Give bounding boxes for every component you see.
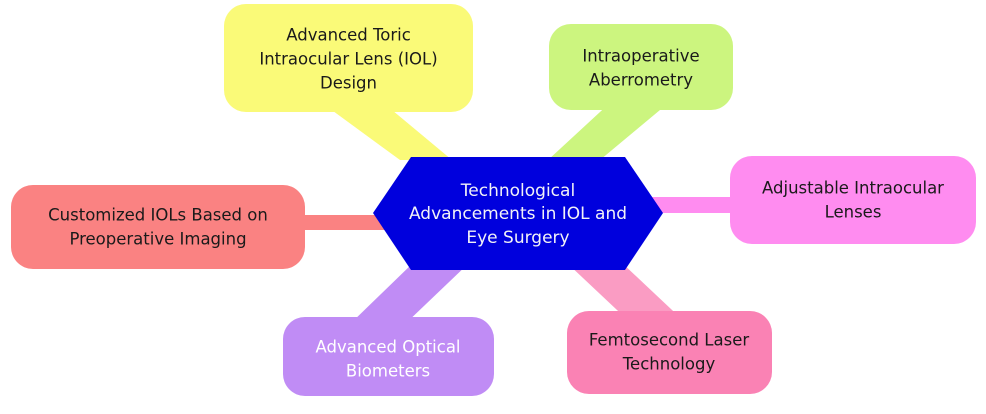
node-shape-advanced-optical-biometers[interactable] — [283, 317, 494, 396]
node-shape-customized-iols[interactable] — [11, 185, 305, 269]
node-label-customized-iols-line-1: Customized IOLs Based on — [48, 206, 268, 225]
node-shape-adjustable-intraocular-lenses[interactable] — [730, 156, 976, 244]
node-advanced-toric-intraocular-lens-iol-design[interactable]: Advanced Toric Intraocular Lens (IOL) De… — [224, 4, 473, 112]
node-femtosecond-laser-technology[interactable]: Femtosecond Laser Technology — [567, 311, 772, 394]
central-label-line-3: Eye Surgery — [466, 228, 569, 248]
node-adjustable-intraocular-lenses[interactable]: Adjustable Intraocular Lenses — [730, 156, 976, 244]
node-label-customized-iols-line-2: Preoperative Imaging — [69, 230, 246, 249]
node-shape-femtosecond-laser-technology[interactable] — [567, 311, 772, 394]
node-label-intraoperative-aberrometry-line-2: Aberrometry — [589, 71, 693, 90]
node-label-adjustable-intraocular-lenses-line-1: Adjustable Intraocular — [762, 179, 944, 198]
mind-map-diagram: Advanced Toric Intraocular Lens (IOL) De… — [0, 0, 986, 414]
central-label-line-1: Technological — [460, 181, 575, 201]
node-intraoperative-aberrometry[interactable]: Intraoperative Aberrometry — [549, 24, 733, 110]
node-label-advanced-toric-line-2: Intraocular Lens (IOL) — [259, 50, 437, 69]
node-advanced-optical-biometers[interactable]: Advanced Optical Biometers — [283, 317, 494, 396]
node-label-advanced-optical-biometers-line-2: Biometers — [346, 362, 430, 381]
node-label-advanced-toric-line-3: Design — [320, 74, 377, 93]
node-label-femtosecond-laser-technology-line-1: Femtosecond Laser — [589, 331, 750, 350]
connector-advanced-optical-biometers — [348, 262, 470, 326]
node-label-advanced-toric-line-1: Advanced Toric — [286, 26, 411, 45]
node-shape-intraoperative-aberrometry[interactable] — [549, 24, 733, 110]
central-label-line-2: Advancements in IOL and — [409, 204, 627, 224]
node-customized-iols-based-on-preoperative-imaging[interactable]: Customized IOLs Based on Preoperative Im… — [11, 185, 305, 269]
node-label-adjustable-intraocular-lenses-line-2: Lenses — [825, 203, 882, 222]
node-label-femtosecond-laser-technology-line-2: Technology — [622, 355, 716, 374]
mind-map-canvas: Advanced Toric Intraocular Lens (IOL) De… — [0, 0, 986, 414]
node-label-advanced-optical-biometers-line-1: Advanced Optical — [315, 338, 460, 357]
node-label-intraoperative-aberrometry-line-1: Intraoperative — [582, 47, 699, 66]
node-central-technological-advancements[interactable]: Technological Advancements in IOL and Ey… — [373, 157, 663, 270]
